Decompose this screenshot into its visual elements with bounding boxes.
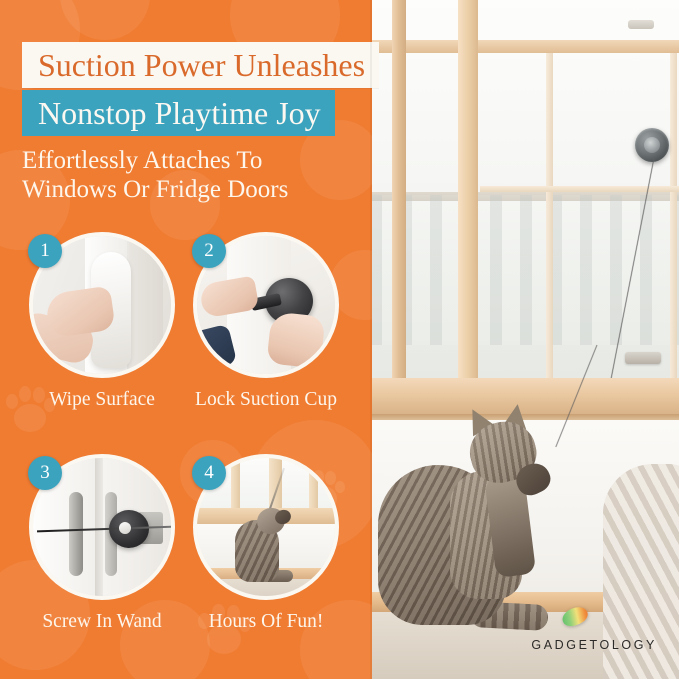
step-number-badge: 1 bbox=[28, 234, 62, 268]
infographic-canvas: GADGETOLOGY bbox=[0, 0, 679, 679]
headline-line-2: Nonstop Playtime Joy bbox=[38, 97, 321, 129]
step-label: Lock Suction Cup bbox=[186, 389, 346, 411]
steps-grid: 1 Wipe Surface 2 Lock Suction bbox=[16, 232, 366, 664]
cat-photo-subject bbox=[378, 420, 568, 625]
step-label: Hours Of Fun! bbox=[186, 611, 346, 633]
window-grid-vertical bbox=[670, 46, 677, 386]
step-item-4: 4 Hours Of Fun! bbox=[186, 454, 346, 633]
window-mullion-vertical bbox=[392, 0, 406, 392]
headline-banner-secondary: Nonstop Playtime Joy bbox=[22, 90, 335, 136]
lifestyle-photo: GADGETOLOGY bbox=[370, 0, 679, 679]
headline-banner-primary: Suction Power Unleashes bbox=[22, 42, 379, 88]
window-latch bbox=[625, 352, 661, 364]
step-label: Screw In Wand bbox=[22, 611, 182, 633]
step-label: Wipe Surface bbox=[22, 389, 182, 411]
step-item-2: 2 Lock Suction Cup bbox=[186, 232, 346, 411]
brand-wordmark: GADGETOLOGY bbox=[531, 638, 657, 652]
subheadline-line-2: Windows Or Fridge Doors bbox=[22, 175, 362, 204]
panel-divider bbox=[370, 0, 372, 679]
step-item-3: 3 Screw In Wand bbox=[22, 454, 182, 633]
window-mullion-horizontal bbox=[370, 40, 679, 53]
subheadline-line-1: Effortlessly Attaches To bbox=[22, 146, 362, 175]
step-number-badge: 3 bbox=[28, 456, 62, 490]
step-item-1: 1 Wipe Surface bbox=[22, 232, 182, 411]
headline-line-1: Suction Power Unleashes bbox=[38, 49, 365, 81]
suction-cup-mount-icon bbox=[635, 128, 669, 162]
step-number-badge: 4 bbox=[192, 456, 226, 490]
window-latch-upper bbox=[628, 20, 654, 29]
window-grid-vertical bbox=[546, 46, 553, 386]
step-number-badge: 2 bbox=[192, 234, 226, 268]
window-mullion-vertical bbox=[458, 0, 478, 392]
subheadline: Effortlessly Attaches To Windows Or Frid… bbox=[22, 146, 362, 204]
